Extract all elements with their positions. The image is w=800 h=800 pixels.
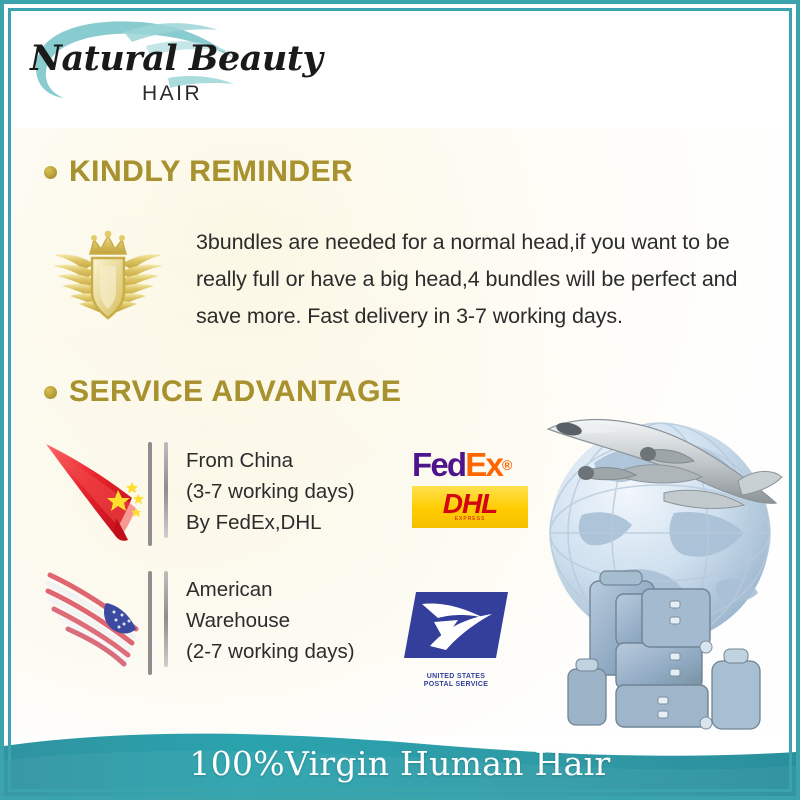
usa-flag-icon (40, 565, 160, 680)
dhl-subtext: EXPRESS (455, 516, 486, 522)
service-line: By FedEx,DHL (186, 507, 355, 538)
fedex-part1: Fed (412, 446, 465, 483)
usps-sub-line1: UNITED STATES (400, 673, 512, 681)
service-text-usa: American Warehouse (2-7 working days) (186, 565, 355, 667)
brand-name-script: Natural Beauty (30, 38, 322, 79)
china-flag-icon (40, 436, 160, 551)
dhl-logo-icon: DHL EXPRESS (412, 486, 528, 528)
fedex-registered-mark: ® (502, 457, 511, 473)
kindly-reminder-heading: KINDLY REMINDER (44, 155, 353, 189)
service-line: (2-7 working days) (186, 636, 355, 667)
usa-flag-cell (40, 565, 160, 680)
service-line: Warehouse (186, 605, 355, 636)
fedex-logo-icon: FedEx® (412, 448, 530, 482)
fedex-part2: Ex (465, 446, 502, 483)
dhl-wordmark: DHL (443, 492, 498, 516)
brand-name-sub: HAIR (142, 82, 202, 106)
globe-airplane-luggage-icon (524, 385, 786, 737)
service-line: (3-7 working days) (186, 476, 355, 507)
kindly-reminder-label: KINDLY REMINDER (69, 155, 353, 189)
brand-logo: Natural Beauty HAIR (14, 12, 274, 122)
service-row-usa: American Warehouse (2-7 working days) (40, 565, 355, 680)
promo-page: Natural Beauty HAIR KINDLY REMINDER (0, 0, 800, 800)
china-flag-cell (40, 436, 160, 551)
usps-sub-line2: POSTAL SERVICE (400, 681, 512, 689)
service-advantage-heading: SERVICE ADVANTAGE (44, 375, 401, 409)
service-row-china: From China (3-7 working days) By FedEx,D… (40, 436, 355, 551)
service-text-china: From China (3-7 working days) By FedEx,D… (186, 436, 355, 538)
service-line: From China (186, 445, 355, 476)
usps-subtext: UNITED STATES POSTAL SERVICE (400, 673, 512, 689)
service-advantage-label: SERVICE ADVANTAGE (69, 375, 401, 409)
service-line: American (186, 574, 355, 605)
kindly-reminder-body: 3bundles are needed for a normal head,if… (196, 224, 756, 335)
carrier-logos-usa: UNITED STATES POSTAL SERVICE (400, 588, 512, 689)
winged-crown-crest-icon (48, 222, 168, 332)
row-divider (164, 442, 168, 538)
row-divider (164, 571, 168, 667)
banner-title: 100%Virgin Human Hair (4, 744, 796, 783)
carrier-logos-china: FedEx® DHL EXPRESS (412, 448, 530, 528)
bottom-banner: 100%Virgin Human Hair (4, 730, 796, 796)
gold-bullet-icon (44, 166, 57, 179)
gold-bullet-icon (44, 386, 57, 399)
usps-eagle-icon (400, 588, 512, 666)
